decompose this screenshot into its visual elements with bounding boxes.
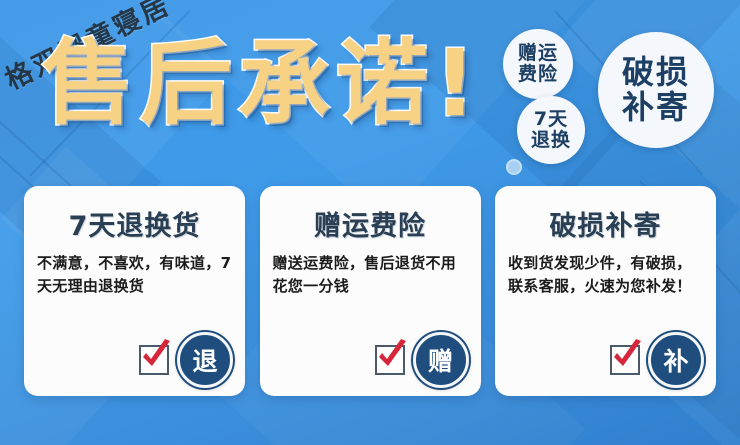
badge-line-1: 赠运 [518, 43, 558, 64]
badge-line-1: 7天 [534, 109, 568, 130]
red-checkmark-icon [375, 345, 405, 375]
card-title: 破损补寄 [495, 204, 716, 243]
seal-stamp-icon: 补 [648, 332, 704, 388]
decorative-dot-icon [506, 159, 522, 175]
card-footer: 赠 [375, 332, 469, 388]
promise-card-return: 7天退换货 不满意，不喜欢，有味道，7天无理由退换货 退 [24, 186, 245, 396]
badge-line-2: 费险 [518, 64, 558, 85]
card-title: 赠运费险 [260, 204, 481, 243]
page-title: 售后承诺! [42, 38, 482, 130]
red-checkmark-icon [610, 345, 640, 375]
badge-line-2: 退换 [531, 130, 571, 151]
badge-damage-resend: 破损 补寄 [598, 32, 714, 148]
card-body: 不满意，不喜欢，有味道，7天无理由退换货 [37, 252, 233, 299]
card-body: 收到货发现少件，有破损，联系客服，火速为您补发！ [508, 252, 704, 299]
red-checkmark-icon [139, 345, 169, 375]
badge-seven-day-return: 7天 退换 [517, 96, 585, 164]
badge-line-2: 补寄 [622, 90, 690, 125]
card-body: 赠送运费险，售后退货不用花您一分钱 [273, 252, 469, 299]
card-footer: 退 [139, 332, 233, 388]
card-title: 7天退换货 [24, 204, 245, 243]
promise-card-list: 7天退换货 不满意，不喜欢，有味道，7天无理由退换货 退 赠运费险 赠送运费险，… [24, 186, 716, 396]
seal-stamp-icon: 退 [177, 332, 233, 388]
after-sales-promise-banner: 格双婴童寝居 售后承诺! 赠运 费险 7天 退换 破损 补寄 7天退换货 不满意… [0, 0, 740, 445]
badge-line-1: 破损 [622, 55, 690, 90]
promise-card-shipping-insurance: 赠运费险 赠送运费险，售后退货不用花您一分钱 赠 [260, 186, 481, 396]
card-footer: 补 [610, 332, 704, 388]
badge-free-shipping-insurance: 赠运 费险 [503, 29, 573, 99]
seal-stamp-icon: 赠 [413, 332, 469, 388]
promise-card-damage-resend: 破损补寄 收到货发现少件，有破损，联系客服，火速为您补发！ 补 [495, 186, 716, 396]
